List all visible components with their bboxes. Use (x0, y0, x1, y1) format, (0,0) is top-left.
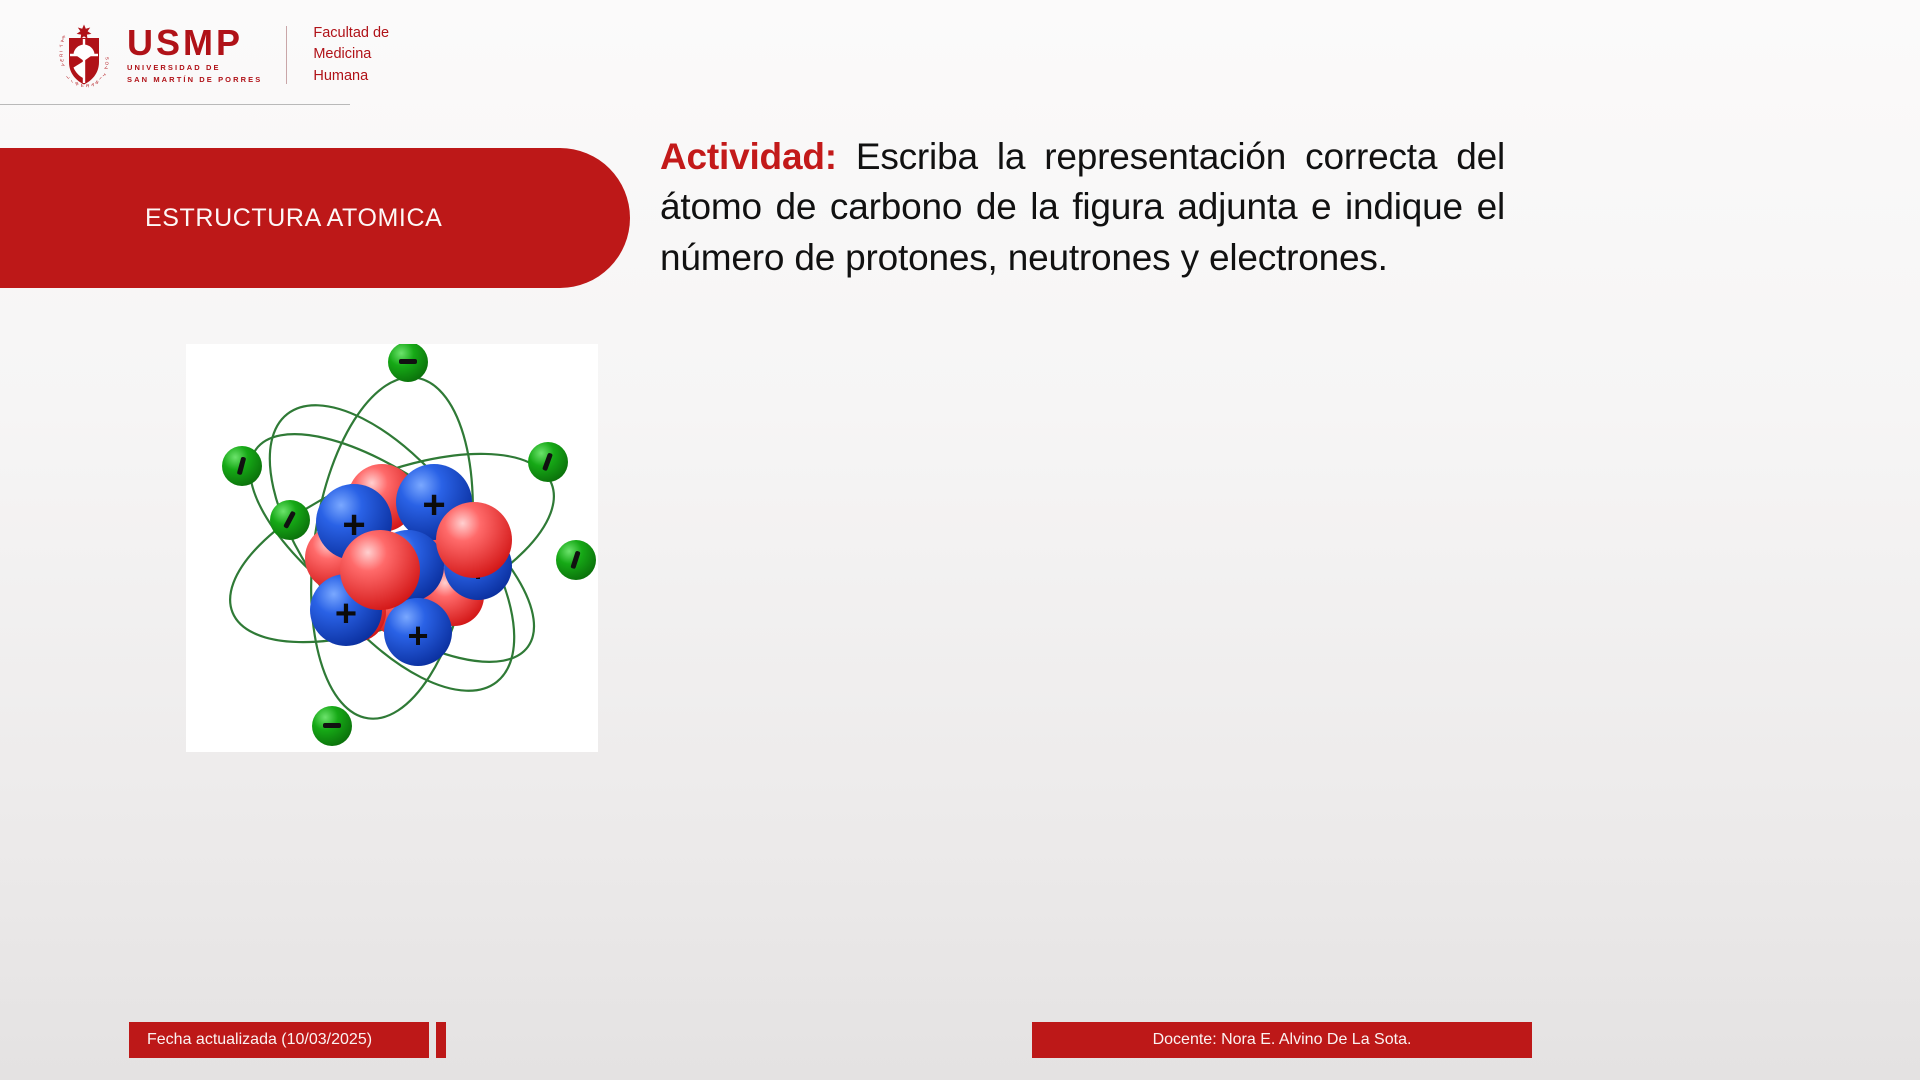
footer-date-bar: Fecha actualizada (10/03/2025) (129, 1022, 429, 1058)
faculty-line-3: Humana (313, 66, 389, 87)
faculty-name: Facultad de Medicina Humana (313, 23, 389, 86)
section-title-label: ESTRUCTURA ATOMICA (145, 204, 442, 233)
footer-teacher-label: Docente: Nora E. Alvino De La Sota. (1153, 1031, 1412, 1049)
atom-diagram-image: + + + + + + (186, 344, 598, 752)
svg-text:R: R (86, 83, 90, 88)
svg-text:T: T (59, 44, 64, 48)
svg-text:E: E (81, 83, 85, 88)
activity-paragraph: Actividad: Escriba la representación cor… (660, 132, 1505, 283)
footer-tick-mark (436, 1022, 446, 1058)
usmp-wordmark: USMP UNIVERSIDAD DE SAN MARTÍN DE PORRES (127, 25, 262, 86)
usmp-shield-icon: V E R I T A S V O S L I B E R A B (55, 22, 113, 88)
svg-text:B: B (75, 81, 80, 87)
faculty-line-2: Medicina (313, 44, 389, 65)
activity-label: Actividad: (660, 136, 837, 177)
svg-text:S: S (61, 35, 67, 40)
header-divider-rule (0, 104, 350, 105)
svg-text:B: B (95, 79, 100, 85)
footer-date-label: Fecha actualizada (10/03/2025) (147, 1031, 372, 1049)
svg-text:I: I (59, 50, 64, 52)
svg-text:I: I (70, 79, 74, 84)
svg-text:+: + (407, 615, 428, 656)
usmp-subtitle-line-1: UNIVERSIDAD DE (127, 62, 262, 73)
svg-text:E: E (59, 58, 65, 62)
svg-text:S: S (105, 57, 110, 61)
svg-text:V: V (103, 66, 109, 71)
svg-text:R: R (59, 53, 64, 57)
svg-text:O: O (104, 61, 110, 66)
section-title-banner: ESTRUCTURA ATOMICA (0, 148, 630, 288)
usmp-title: USMP (127, 25, 262, 61)
slide-header: V E R I T A S V O S L I B E R A B (0, 0, 430, 128)
usmp-logo: V E R I T A S V O S L I B E R A B (55, 22, 389, 88)
svg-text:V: V (60, 63, 66, 68)
faculty-line-1: Facultad de (313, 23, 389, 44)
logo-divider (286, 26, 287, 84)
usmp-subtitle-line-2: SAN MARTÍN DE PORRES (127, 74, 262, 85)
footer-teacher-bar: Docente: Nora E. Alvino De La Sota. (1032, 1022, 1532, 1058)
